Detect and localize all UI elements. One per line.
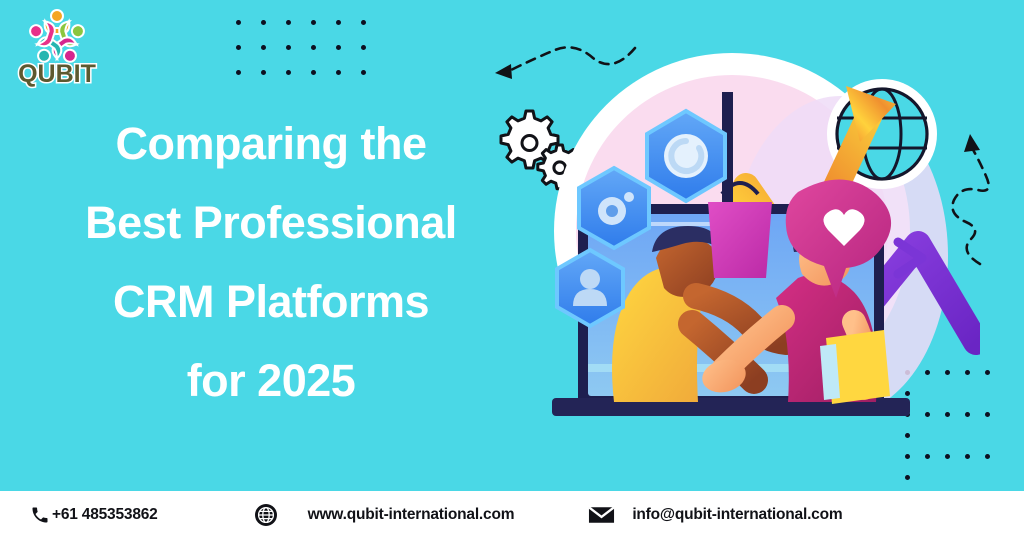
page-title: Comparing the Best Professional CRM Plat… xyxy=(36,104,506,420)
footer-phone[interactable]: +61 485353862 xyxy=(30,491,158,538)
yellow-folder-icon xyxy=(820,330,890,404)
contact-footer: +61 485353862 www.qubit-international.co… xyxy=(0,491,1024,538)
globe-icon xyxy=(254,503,278,527)
phone-icon xyxy=(30,505,50,525)
dot-grid-top xyxy=(236,20,386,95)
title-line-2: Best Professional xyxy=(36,183,506,262)
banner-root: QUBIT Comparing the Best Professional CR… xyxy=(0,0,1024,538)
hex-badge-user[interactable] xyxy=(557,250,623,326)
crm-illustration xyxy=(510,46,980,456)
email-text: info@qubit-international.com xyxy=(632,506,842,524)
title-line-4: for 2025 xyxy=(36,341,506,420)
phone-text: +61 485353862 xyxy=(52,506,158,524)
qubit-logo[interactable]: QUBIT xyxy=(12,6,102,90)
logo-wordmark: QUBIT xyxy=(18,60,96,88)
people-circle-logo: QUBIT xyxy=(12,6,102,90)
title-line-1: Comparing the xyxy=(36,104,506,183)
website-text: www.qubit-international.com xyxy=(308,506,515,524)
footer-website[interactable]: www.qubit-international.com xyxy=(254,491,515,538)
footer-email[interactable]: info@qubit-international.com xyxy=(588,491,842,538)
envelope-icon xyxy=(588,505,615,525)
title-line-3: CRM Platforms xyxy=(36,262,506,341)
hex-badge-gear[interactable] xyxy=(579,168,649,248)
